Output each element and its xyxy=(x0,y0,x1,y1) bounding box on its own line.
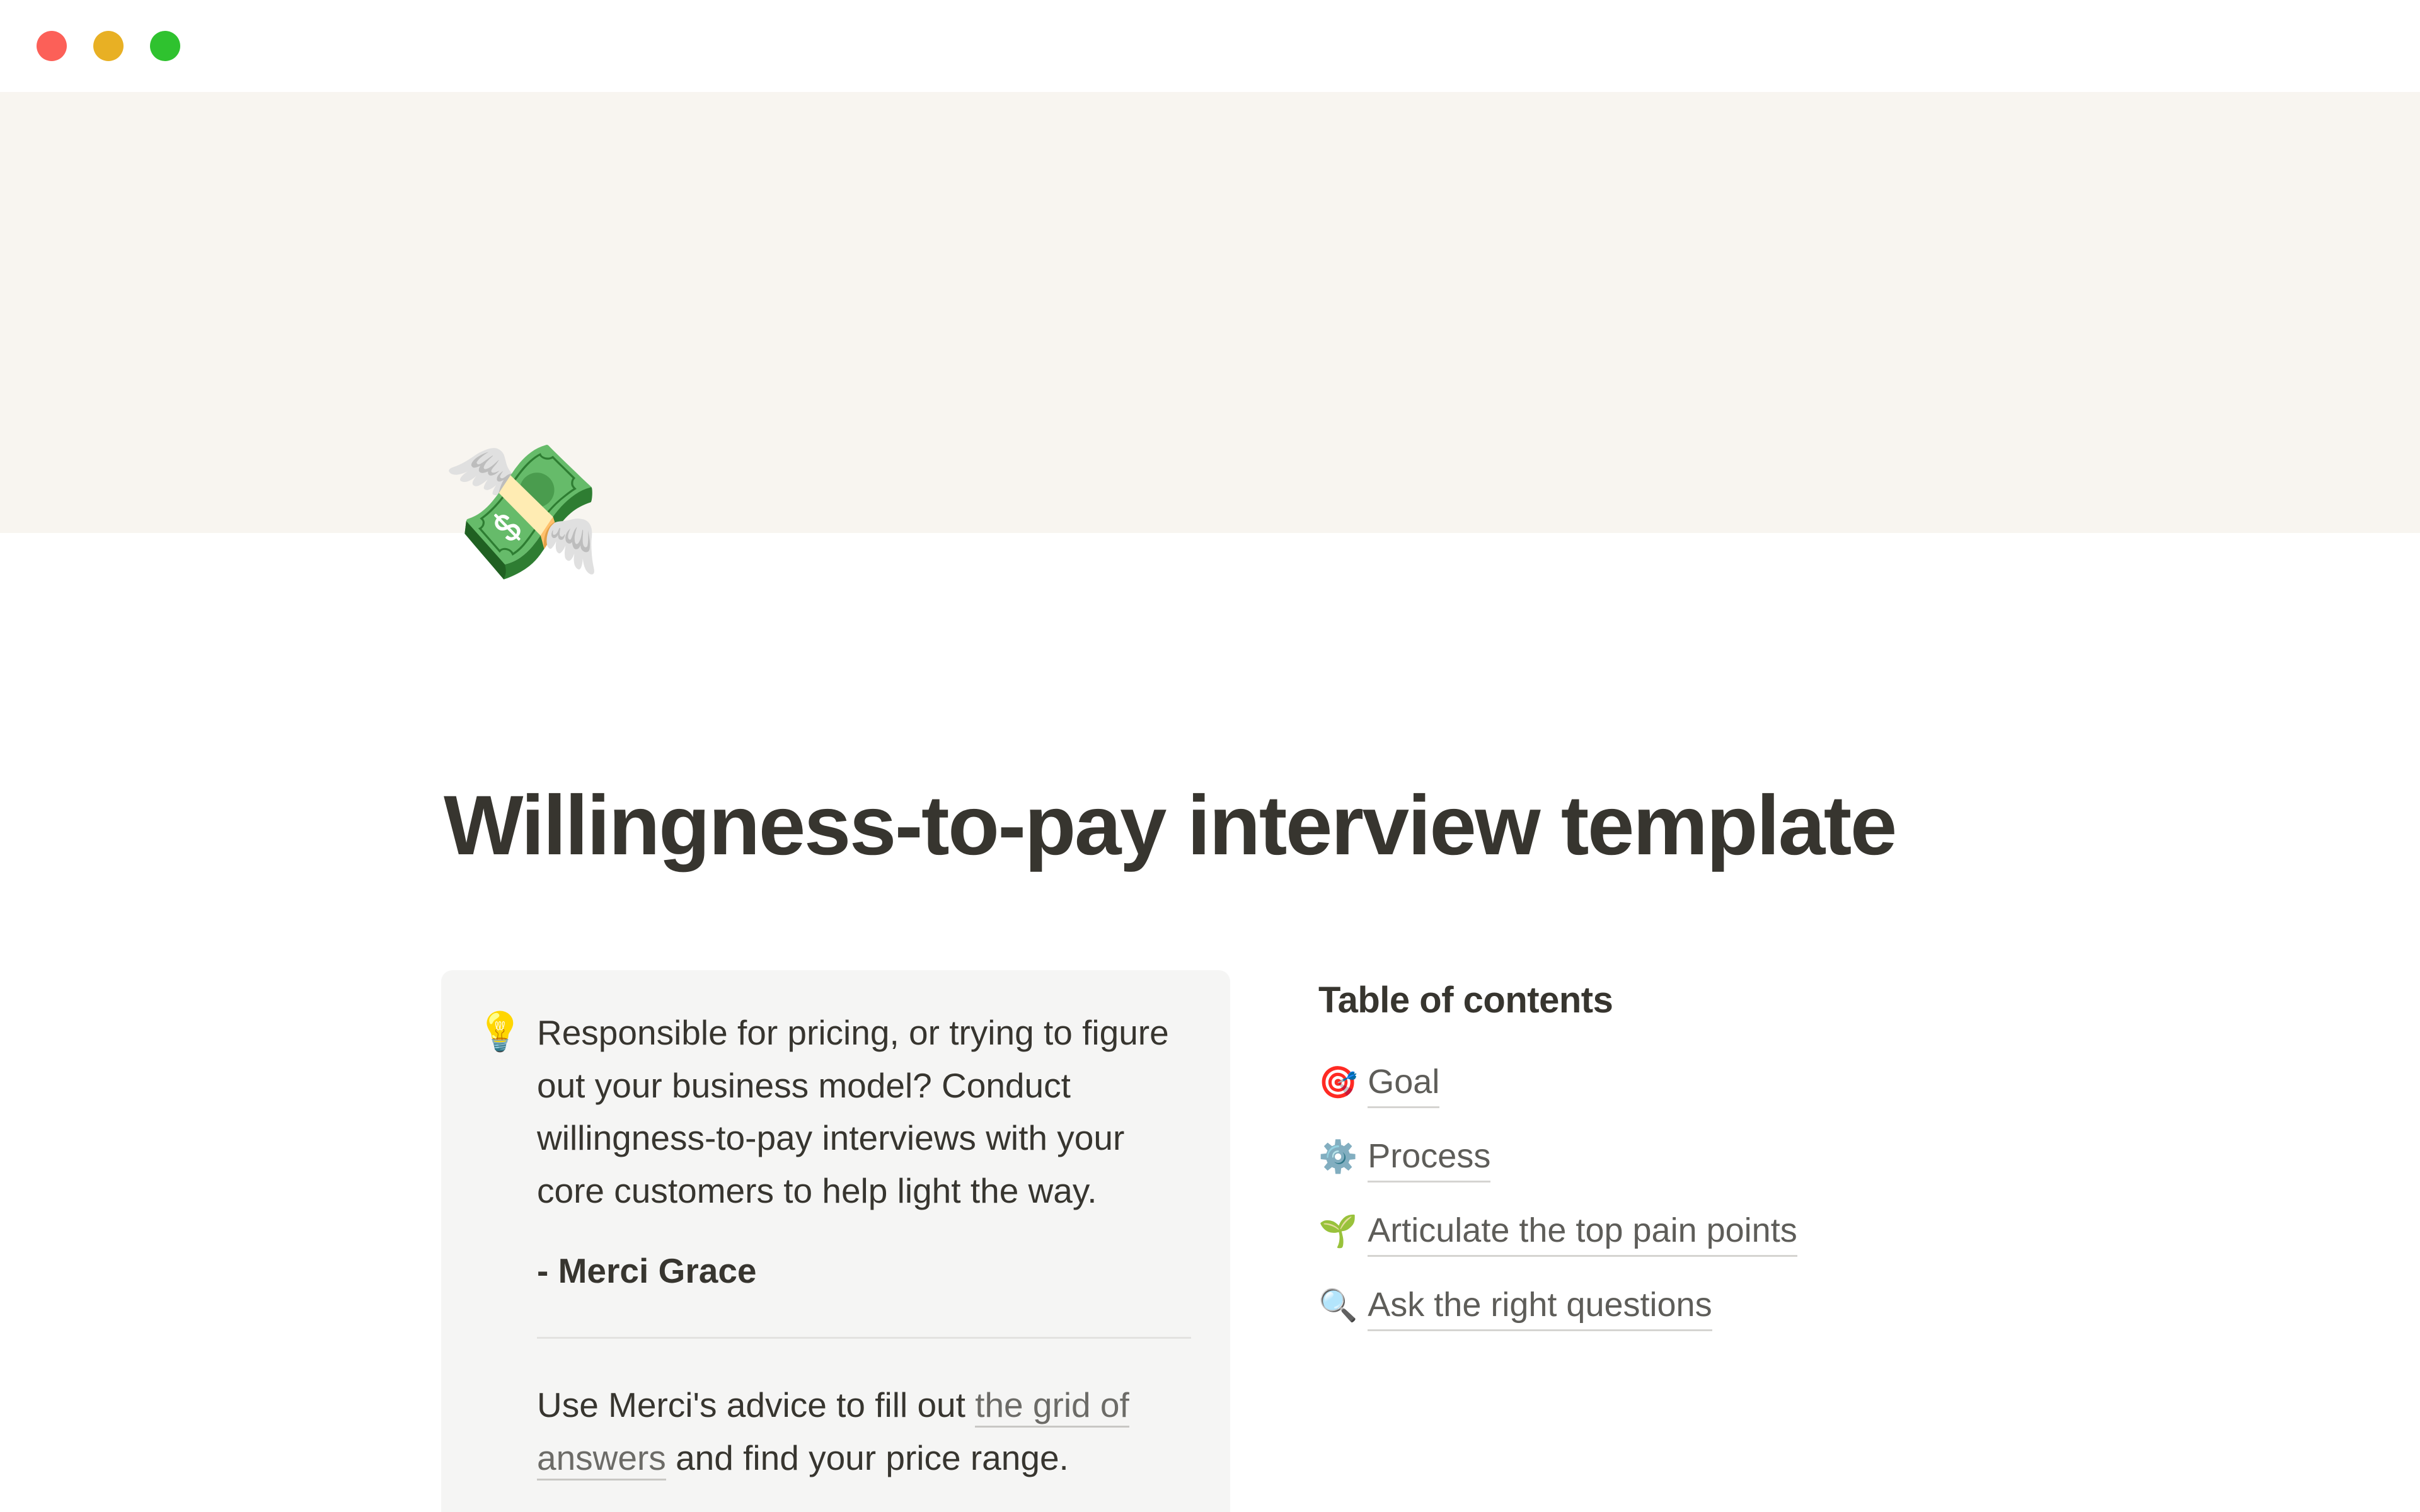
callout-footer-prefix: Use Merci's advice to fill out xyxy=(537,1385,975,1424)
app-window: 💸 Willingness-to-pay interview template … xyxy=(0,0,2420,1512)
magnifying-glass-icon: 🔍 xyxy=(1318,1290,1357,1321)
callout-divider xyxy=(537,1337,1191,1339)
toc-link-goal[interactable]: Goal xyxy=(1368,1060,1439,1108)
zoom-window-button[interactable] xyxy=(150,31,180,61)
window-title-bar xyxy=(0,0,2420,92)
toc-item-articulate-the-top-pain-points[interactable]: 🌱 Articulate the top pain points xyxy=(1318,1209,2138,1257)
seedling-icon: 🌱 xyxy=(1318,1215,1357,1247)
callout-footer: Use Merci's advice to fill out the grid … xyxy=(537,1379,1191,1484)
traffic-light-controls xyxy=(37,31,180,61)
callout-body: Responsible for pricing, or trying to fi… xyxy=(537,1007,1191,1484)
toc-link-process[interactable]: Process xyxy=(1368,1135,1490,1183)
callout-attribution: - Merci Grace xyxy=(537,1245,1191,1298)
table-of-contents-list: 🎯 Goal ⚙️ Process 🌱 Articulate the top p… xyxy=(1318,1060,2138,1331)
page-body: 💸 Willingness-to-pay interview template … xyxy=(0,92,2420,1512)
gear-icon: ⚙️ xyxy=(1318,1141,1357,1172)
toc-link-ask-the-right-questions[interactable]: Ask the right questions xyxy=(1368,1283,1712,1331)
money-with-wings-icon[interactable]: 💸 xyxy=(441,447,604,578)
toc-item-goal[interactable]: 🎯 Goal xyxy=(1318,1060,2138,1108)
toc-item-process[interactable]: ⚙️ Process xyxy=(1318,1135,2138,1183)
minimize-window-button[interactable] xyxy=(93,31,124,61)
direct-hit-icon: 🎯 xyxy=(1318,1067,1357,1098)
table-of-contents-heading: Table of contents xyxy=(1318,979,2138,1021)
page-title[interactable]: Willingness-to-pay interview template xyxy=(444,779,2271,873)
content-columns: 💡 Responsible for pricing, or trying to … xyxy=(441,970,2269,1512)
close-window-button[interactable] xyxy=(37,31,67,61)
light-bulb-icon: 💡 xyxy=(476,1007,537,1058)
toc-link-articulate-the-top-pain-points[interactable]: Articulate the top pain points xyxy=(1368,1209,1797,1257)
toc-item-ask-the-right-questions[interactable]: 🔍 Ask the right questions xyxy=(1318,1283,2138,1331)
callout-footer-suffix: and find your price range. xyxy=(666,1438,1069,1477)
callout-block[interactable]: 💡 Responsible for pricing, or trying to … xyxy=(441,970,1230,1512)
callout-paragraph: Responsible for pricing, or trying to fi… xyxy=(537,1007,1191,1217)
table-of-contents: Table of contents 🎯 Goal ⚙️ Process 🌱 Ar… xyxy=(1318,970,2138,1358)
